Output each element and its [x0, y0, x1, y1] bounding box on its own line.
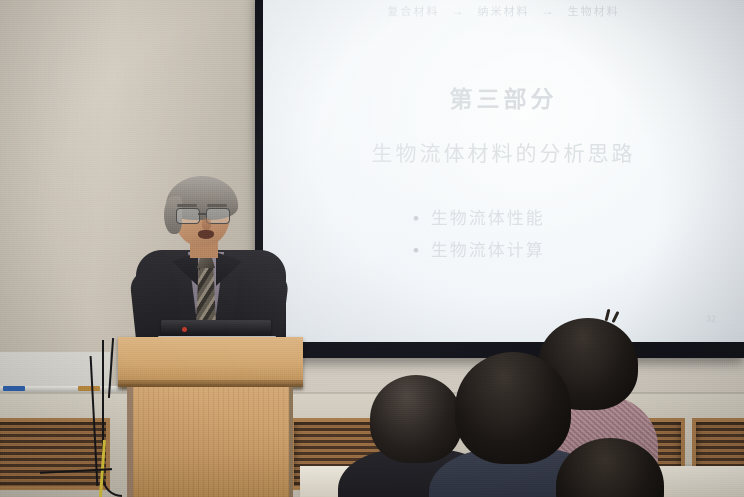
presenter-eyebrow-left [177, 204, 197, 207]
arrow-right-icon: → [444, 4, 472, 18]
slide-title: 第三部分 [263, 80, 744, 114]
arrow-right-icon: → [535, 4, 563, 18]
screen-glare [263, 0, 744, 342]
podium-body [127, 387, 293, 497]
presenter-mouth [198, 230, 214, 239]
bullet-dot-icon: • [413, 235, 424, 267]
eyeglass-bridge [198, 213, 206, 215]
slide-subtitle: 生物流体材料的分析思路 [263, 138, 744, 168]
tan-marker [78, 386, 100, 391]
audience-member-head [455, 352, 571, 464]
slide-header-item-1: 复合材料 [387, 6, 439, 18]
slide-header-item-2: 纳米材料 [478, 6, 530, 18]
slide-header-breadcrumb: 复合材料 → 纳米材料 → 生物材料 [263, 3, 744, 19]
slide-page-number: 32 [706, 314, 716, 324]
bullet-text: 生物流体性能 [431, 209, 545, 228]
projection-screen: 复合材料 → 纳米材料 → 生物材料 第三部分 生物流体材料的分析思路 • 生物… [263, 0, 744, 342]
presenter-eyebrow-right [207, 204, 227, 207]
blue-marker [3, 386, 25, 391]
presenter-nose [202, 218, 211, 230]
list-item: • 生物流体性能 [413, 203, 545, 235]
bullet-dot-icon: • [413, 203, 424, 235]
podium-top [118, 337, 303, 387]
presentation-photo-scene: 复合材料 → 纳米材料 → 生物材料 第三部分 生物流体材料的分析思路 • 生物… [0, 0, 744, 497]
eyeglass-lens-left [176, 208, 200, 224]
audience-member-head [370, 375, 462, 463]
bullet-text: 生物流体计算 [431, 241, 545, 260]
list-item: • 生物流体计算 [413, 235, 545, 267]
screen-vignette [263, 0, 744, 342]
laptop-logo-icon [182, 327, 187, 332]
slide-header-item-3: 生物材料 [568, 6, 620, 18]
slide-bullet-list: • 生物流体性能 • 生物流体计算 [413, 203, 545, 267]
